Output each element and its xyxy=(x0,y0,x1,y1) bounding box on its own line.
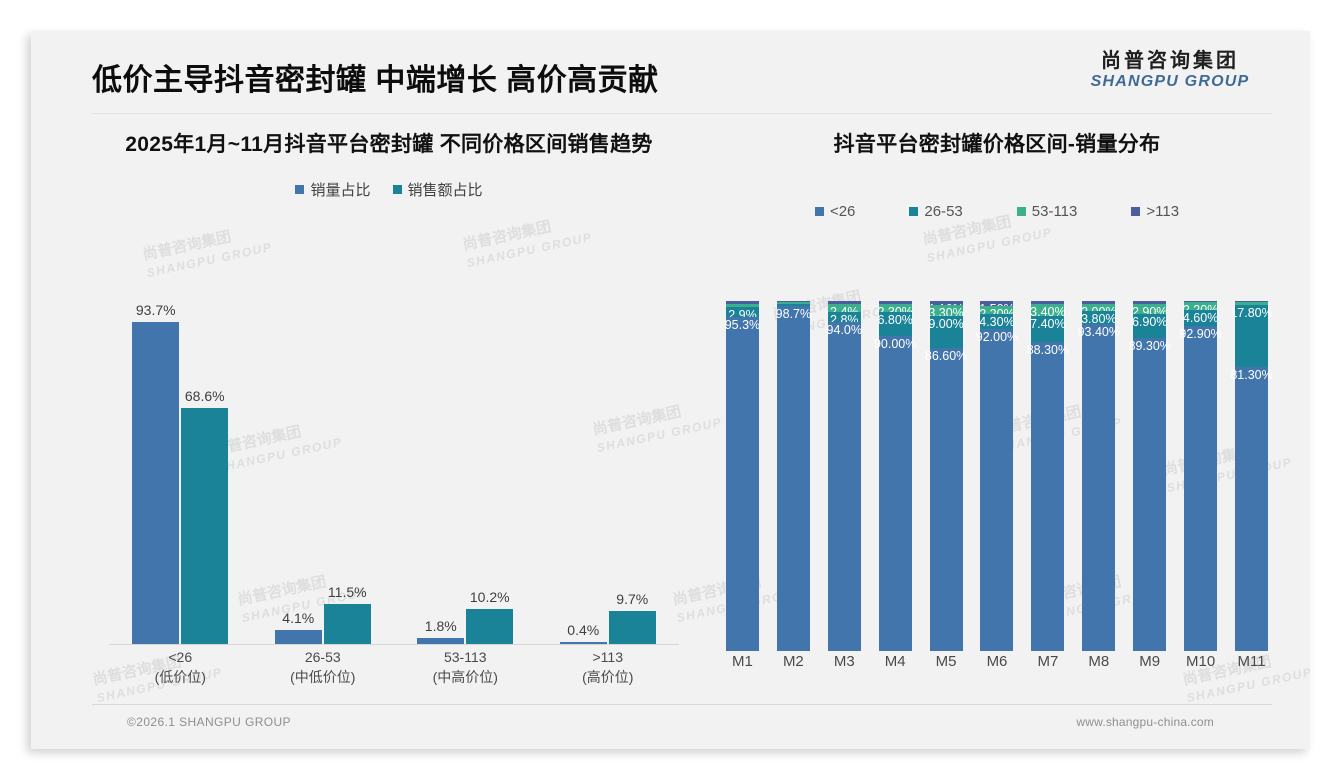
stack-segment-label: 86.60% xyxy=(925,349,967,363)
stack-segment[interactable]: 3.80% xyxy=(1082,311,1115,324)
chart-left-legend: 销量占比 销售额占比 xyxy=(79,179,699,200)
stack: 0.3%0.4%0.6%98.7% xyxy=(777,301,810,651)
x-axis-tick: M4 xyxy=(870,653,921,670)
chart-right-x-axis: M1M2M3M4M5M6M7M8M9M10M11 xyxy=(717,653,1277,670)
brand-logo: 尚普咨询集团 SHANGPU GROUP xyxy=(1070,51,1270,91)
stack: 0.20%0.70%17.80%81.30% xyxy=(1235,301,1268,651)
x-tick-tier: (高价位) xyxy=(537,667,680,687)
x-axis-tick: M7 xyxy=(1022,653,1073,670)
x-tick-tier: (低价位) xyxy=(109,667,252,687)
stack-segment[interactable]: 81.30% xyxy=(1235,367,1268,651)
stack-segment[interactable]: 2.30% xyxy=(879,304,912,312)
stack-segment[interactable]: 2.90% xyxy=(1133,304,1166,314)
stack-segment[interactable]: 9.00% xyxy=(930,316,963,348)
bar-column[interactable]: 4.1% xyxy=(275,301,322,644)
stacked-bar-column[interactable]: 0.80%2.00%3.80%93.40% xyxy=(1073,301,1124,651)
bar-column[interactable]: 0.4% xyxy=(560,301,607,644)
bar[interactable] xyxy=(324,604,371,644)
legend-label: 53-113 xyxy=(1032,203,1078,220)
stack-segment-label: 4.60% xyxy=(1183,311,1218,325)
bar-value-label: 10.2% xyxy=(470,589,510,605)
x-tick-tier: (中低价位) xyxy=(252,667,395,687)
x-tick-range: >113 xyxy=(537,647,680,667)
bar-value-label: 0.4% xyxy=(567,622,599,638)
stack-segment[interactable]: 88.30% xyxy=(1031,342,1064,651)
stack-segment-label: 7.40% xyxy=(1030,317,1065,331)
stack: 0.30%2.20%4.60%92.90% xyxy=(1184,301,1217,651)
stack-segment[interactable]: 93.40% xyxy=(1082,324,1115,651)
chart-left-title: 2025年1月~11月抖音平台密封罐 不同价格区间销售趋势 xyxy=(79,131,699,159)
bar-column[interactable]: 1.8% xyxy=(417,301,464,644)
stack-segment[interactable]: 2.8% xyxy=(828,312,861,322)
x-axis-tick: 53-113(中高价位) xyxy=(394,647,537,688)
stack-segment[interactable]: 98.7% xyxy=(777,306,810,651)
x-axis-tick: M6 xyxy=(972,653,1023,670)
stacked-bar-column[interactable]: 0.90%2.30%6.80%90.00% xyxy=(870,301,921,651)
stack-segment[interactable]: 6.80% xyxy=(879,312,912,336)
stack-segment-label: 90.00% xyxy=(874,337,916,351)
bar-value-label: 68.6% xyxy=(185,388,225,404)
slide-canvas: 低价主导抖音密封罐 中端增长 高价高贡献 尚普咨询集团 SHANGPU GROU… xyxy=(31,31,1310,749)
x-axis-tick: M2 xyxy=(768,653,819,670)
legend-label: 26-53 xyxy=(924,203,962,220)
chart-left-title-line2: 不同价格区间销售趋势 xyxy=(440,133,653,156)
stack-segment-label: 94.0% xyxy=(827,323,862,337)
stack-segment-label: 92.00% xyxy=(976,330,1018,344)
bar[interactable] xyxy=(132,322,179,644)
stack-segment-label: 6.90% xyxy=(1132,315,1167,329)
bar-value-label: 93.7% xyxy=(136,302,176,318)
bar-value-label: 9.7% xyxy=(616,591,648,607)
x-tick-range: 26-53 xyxy=(252,647,395,667)
bar-group: 4.1%11.5% xyxy=(252,301,395,644)
header-divider xyxy=(92,113,1272,114)
stack-segment[interactable]: 92.90% xyxy=(1184,326,1217,651)
stack-segment[interactable]: 2.00% xyxy=(1082,304,1115,311)
legend-swatch-icon xyxy=(295,185,304,194)
chart-right-legend: <26 26-53 53-113 >113 xyxy=(707,203,1287,220)
x-axis-tick: >113(高价位) xyxy=(537,647,680,688)
legend-swatch-icon xyxy=(1131,207,1140,216)
stacked-bar-column[interactable]: 0.20%0.70%17.80%81.30% xyxy=(1226,301,1277,651)
bar-group: 1.8%10.2% xyxy=(394,301,537,644)
stack-segment[interactable]: 94.0% xyxy=(828,322,861,651)
legend-item-revenue-share[interactable]: 销售额占比 xyxy=(393,179,483,200)
stack-segment[interactable]: 4.60% xyxy=(1184,310,1217,326)
stack-segment[interactable]: 89.30% xyxy=(1133,338,1166,651)
stack-segment-label: 89.30% xyxy=(1129,339,1171,353)
stack: 1.50%2.20%4.30%92.00% xyxy=(980,301,1013,651)
stacked-bar-column[interactable]: 1.50%2.20%4.30%92.00% xyxy=(972,301,1023,651)
legend-label: <26 xyxy=(830,203,855,220)
stack-segment-label: 92.90% xyxy=(1179,327,1221,341)
stack-segment[interactable]: 3.30% xyxy=(930,305,963,317)
x-tick-range: 53-113 xyxy=(394,647,537,667)
chart-left-title-line1: 2025年1月~11月抖音平台密封罐 xyxy=(125,133,433,156)
bar-group: 0.4%9.7% xyxy=(537,301,680,644)
x-axis-tick: M11 xyxy=(1226,653,1277,670)
legend-label: 销量占比 xyxy=(310,179,370,200)
stack-segment[interactable]: 7.40% xyxy=(1031,316,1064,342)
stack-segment[interactable]: 17.80% xyxy=(1235,305,1268,367)
legend-item-sales-share[interactable]: 销量占比 xyxy=(295,179,370,200)
x-axis-tick: M10 xyxy=(1175,653,1226,670)
bar-column[interactable]: 68.6% xyxy=(181,301,228,644)
x-axis-tick: M5 xyxy=(921,653,972,670)
stack-segment-label: 95.3% xyxy=(725,318,760,332)
stacked-bar-column[interactable]: 0.8%1.0%2.9%95.3% xyxy=(717,301,768,651)
stack-segment-label: 6.80% xyxy=(877,313,912,327)
x-axis-tick: M1 xyxy=(717,653,768,670)
legend-item-53-113[interactable]: 53-113 xyxy=(1017,203,1078,220)
bar[interactable] xyxy=(417,638,464,644)
stacked-bar-column[interactable]: 0.30%2.20%4.60%92.90% xyxy=(1175,301,1226,651)
legend-label: >113 xyxy=(1146,203,1179,220)
bar[interactable] xyxy=(275,630,322,644)
chart-right-title: 抖音平台密封罐价格区间-销量分布 xyxy=(707,131,1287,159)
chart-left-plot-area: 93.7%68.6%4.1%11.5%1.8%10.2%0.4%9.7% xyxy=(109,301,679,645)
bar-value-label: 4.1% xyxy=(282,610,314,626)
bar-column[interactable]: 9.7% xyxy=(609,301,656,644)
website-url[interactable]: www.shangpu-china.com xyxy=(1076,715,1214,729)
stacked-bar-column[interactable]: 0.8%2.4%2.8%94.0% xyxy=(819,301,870,651)
stacked-bar-chart: 0.8%1.0%2.9%95.3%0.3%0.4%0.6%98.7%0.8%2.… xyxy=(707,301,1287,701)
stack-segment-label: 4.30% xyxy=(979,315,1014,329)
stack-segment[interactable]: 6.90% xyxy=(1133,314,1166,338)
bar-value-label: 11.5% xyxy=(328,584,367,600)
legend-swatch-icon xyxy=(1017,207,1026,216)
stack-segment-label: 81.30% xyxy=(1230,368,1272,382)
chart-panel-left: 2025年1月~11月抖音平台密封罐 不同价格区间销售趋势 销量占比 销售额占比… xyxy=(79,131,699,701)
stack: 1.10%3.30%9.00%86.60% xyxy=(930,301,963,651)
stack-segment[interactable]: 92.00% xyxy=(980,329,1013,651)
legend-swatch-icon xyxy=(909,207,918,216)
stack: 0.8%2.4%2.8%94.0% xyxy=(828,301,861,651)
bar[interactable] xyxy=(560,642,607,644)
bar[interactable] xyxy=(466,609,513,644)
x-axis-tick: <26(低价位) xyxy=(109,647,252,688)
stack-segment-label: 98.7% xyxy=(776,307,811,321)
stack-segment[interactable]: 2.9% xyxy=(726,307,759,317)
stack-segment-label: 9.00% xyxy=(928,317,963,331)
stack: 0.90%2.90%6.90%89.30% xyxy=(1133,301,1166,651)
x-tick-tier: (中高价位) xyxy=(394,667,537,687)
stack-segment[interactable]: 86.60% xyxy=(930,348,963,651)
legend-label: 销售额占比 xyxy=(408,179,483,200)
stack-segment[interactable]: 95.3% xyxy=(726,317,759,651)
stack-segment[interactable]: 2.20% xyxy=(980,306,1013,314)
chart-left-x-axis: <26(低价位)26-53(中低价位)53-113(中高价位)>113(高价位) xyxy=(109,647,679,688)
stack: 0.90%3.40%7.40%88.30% xyxy=(1031,301,1064,651)
stack: 0.8%1.0%2.9%95.3% xyxy=(726,301,759,651)
stacked-bar-column[interactable]: 0.90%3.40%7.40%88.30% xyxy=(1022,301,1073,651)
legend-item-under-26[interactable]: <26 xyxy=(815,203,855,220)
stack-segment[interactable]: 4.30% xyxy=(980,314,1013,329)
chart-right-plot-area: 0.8%1.0%2.9%95.3%0.3%0.4%0.6%98.7%0.8%2.… xyxy=(717,301,1277,651)
bar[interactable] xyxy=(181,408,228,644)
legend-swatch-icon xyxy=(815,207,824,216)
bar-column[interactable]: 93.7% xyxy=(132,301,179,644)
x-axis-tick: M3 xyxy=(819,653,870,670)
footer-divider xyxy=(92,704,1272,705)
stack: 0.80%2.00%3.80%93.40% xyxy=(1082,301,1115,651)
bar[interactable] xyxy=(609,611,656,644)
bar-column[interactable]: 10.2% xyxy=(466,301,513,644)
x-tick-range: <26 xyxy=(109,647,252,667)
stacked-bar-column[interactable]: 0.90%2.90%6.90%89.30% xyxy=(1124,301,1175,651)
chart-panel-right: 抖音平台密封罐价格区间-销量分布 <26 26-53 53-113 >113 0… xyxy=(707,131,1287,701)
stack-segment-label: 17.80% xyxy=(1230,306,1272,320)
page-title: 低价主导抖音密封罐 中端增长 高价高贡献 xyxy=(92,55,659,99)
stack: 0.90%2.30%6.80%90.00% xyxy=(879,301,912,651)
stacked-bar-column[interactable]: 0.3%0.4%0.6%98.7% xyxy=(768,301,819,651)
bar-column[interactable]: 11.5% xyxy=(324,301,371,644)
stack-segment-label: 93.40% xyxy=(1078,325,1120,339)
stack-segment[interactable]: 3.40% xyxy=(1031,304,1064,316)
legend-item-over-113[interactable]: >113 xyxy=(1131,203,1179,220)
x-axis-tick: M9 xyxy=(1124,653,1175,670)
copyright-text: ©2026.1 SHANGPU GROUP xyxy=(127,715,291,729)
legend-swatch-icon xyxy=(393,185,402,194)
bar-value-label: 1.8% xyxy=(425,618,457,634)
slide-header: 低价主导抖音密封罐 中端增长 高价高贡献 尚普咨询集团 SHANGPU GROU… xyxy=(31,31,1310,113)
stack-segment-label: 88.30% xyxy=(1027,343,1069,357)
stack-segment[interactable]: 2.4% xyxy=(828,304,861,312)
stack-segment[interactable]: 2.20% xyxy=(1184,302,1217,310)
bar-group: 93.7%68.6% xyxy=(109,301,252,644)
logo-english-text: SHANGPU GROUP xyxy=(1070,73,1270,91)
grouped-bar-chart: 93.7%68.6%4.1%11.5%1.8%10.2%0.4%9.7% <26… xyxy=(79,301,699,701)
stacked-bar-column[interactable]: 1.10%3.30%9.00%86.60% xyxy=(921,301,972,651)
x-axis-tick: M8 xyxy=(1073,653,1124,670)
x-axis-tick: 26-53(中低价位) xyxy=(252,647,395,688)
stack-segment[interactable]: 90.00% xyxy=(879,336,912,651)
logo-chinese-text: 尚普咨询集团 xyxy=(1070,51,1270,72)
legend-item-26-53[interactable]: 26-53 xyxy=(909,203,962,220)
